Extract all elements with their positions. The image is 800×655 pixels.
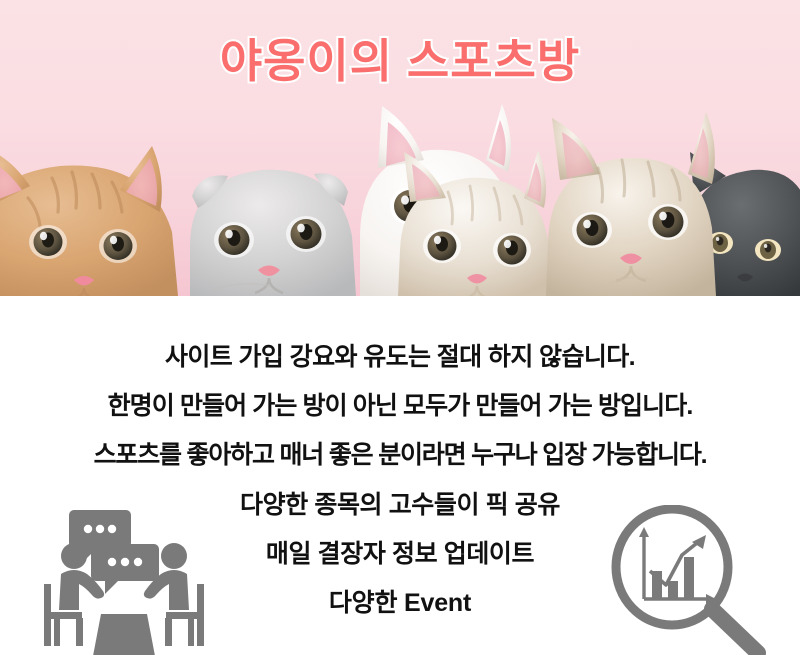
copy-line-2: 한명이 만들어 가는 방이 아닌 모두가 만들어 가는 방입니다.: [0, 386, 800, 422]
gray-fold-cat: [190, 170, 356, 296]
page-title: 야옹이의 스포츠방: [0, 36, 800, 88]
copy-line-1: 사이트 가입 강요와 유도는 절대 하지 않습니다.: [0, 337, 800, 373]
hero-banner: 야옹이의 스포츠방: [0, 0, 800, 296]
chart-magnifier-icon: [598, 505, 770, 655]
promo-page: 야옹이의 스포츠방 사이트 가입 강요와 유도는 절대 하지 않습니다. 한명이…: [0, 0, 800, 655]
copy-line-3: 스포츠를 좋아하고 매너 좋은 분이라면 누구나 입장 가능합니다.: [0, 435, 800, 471]
discussion-meeting-icon: [36, 504, 212, 655]
